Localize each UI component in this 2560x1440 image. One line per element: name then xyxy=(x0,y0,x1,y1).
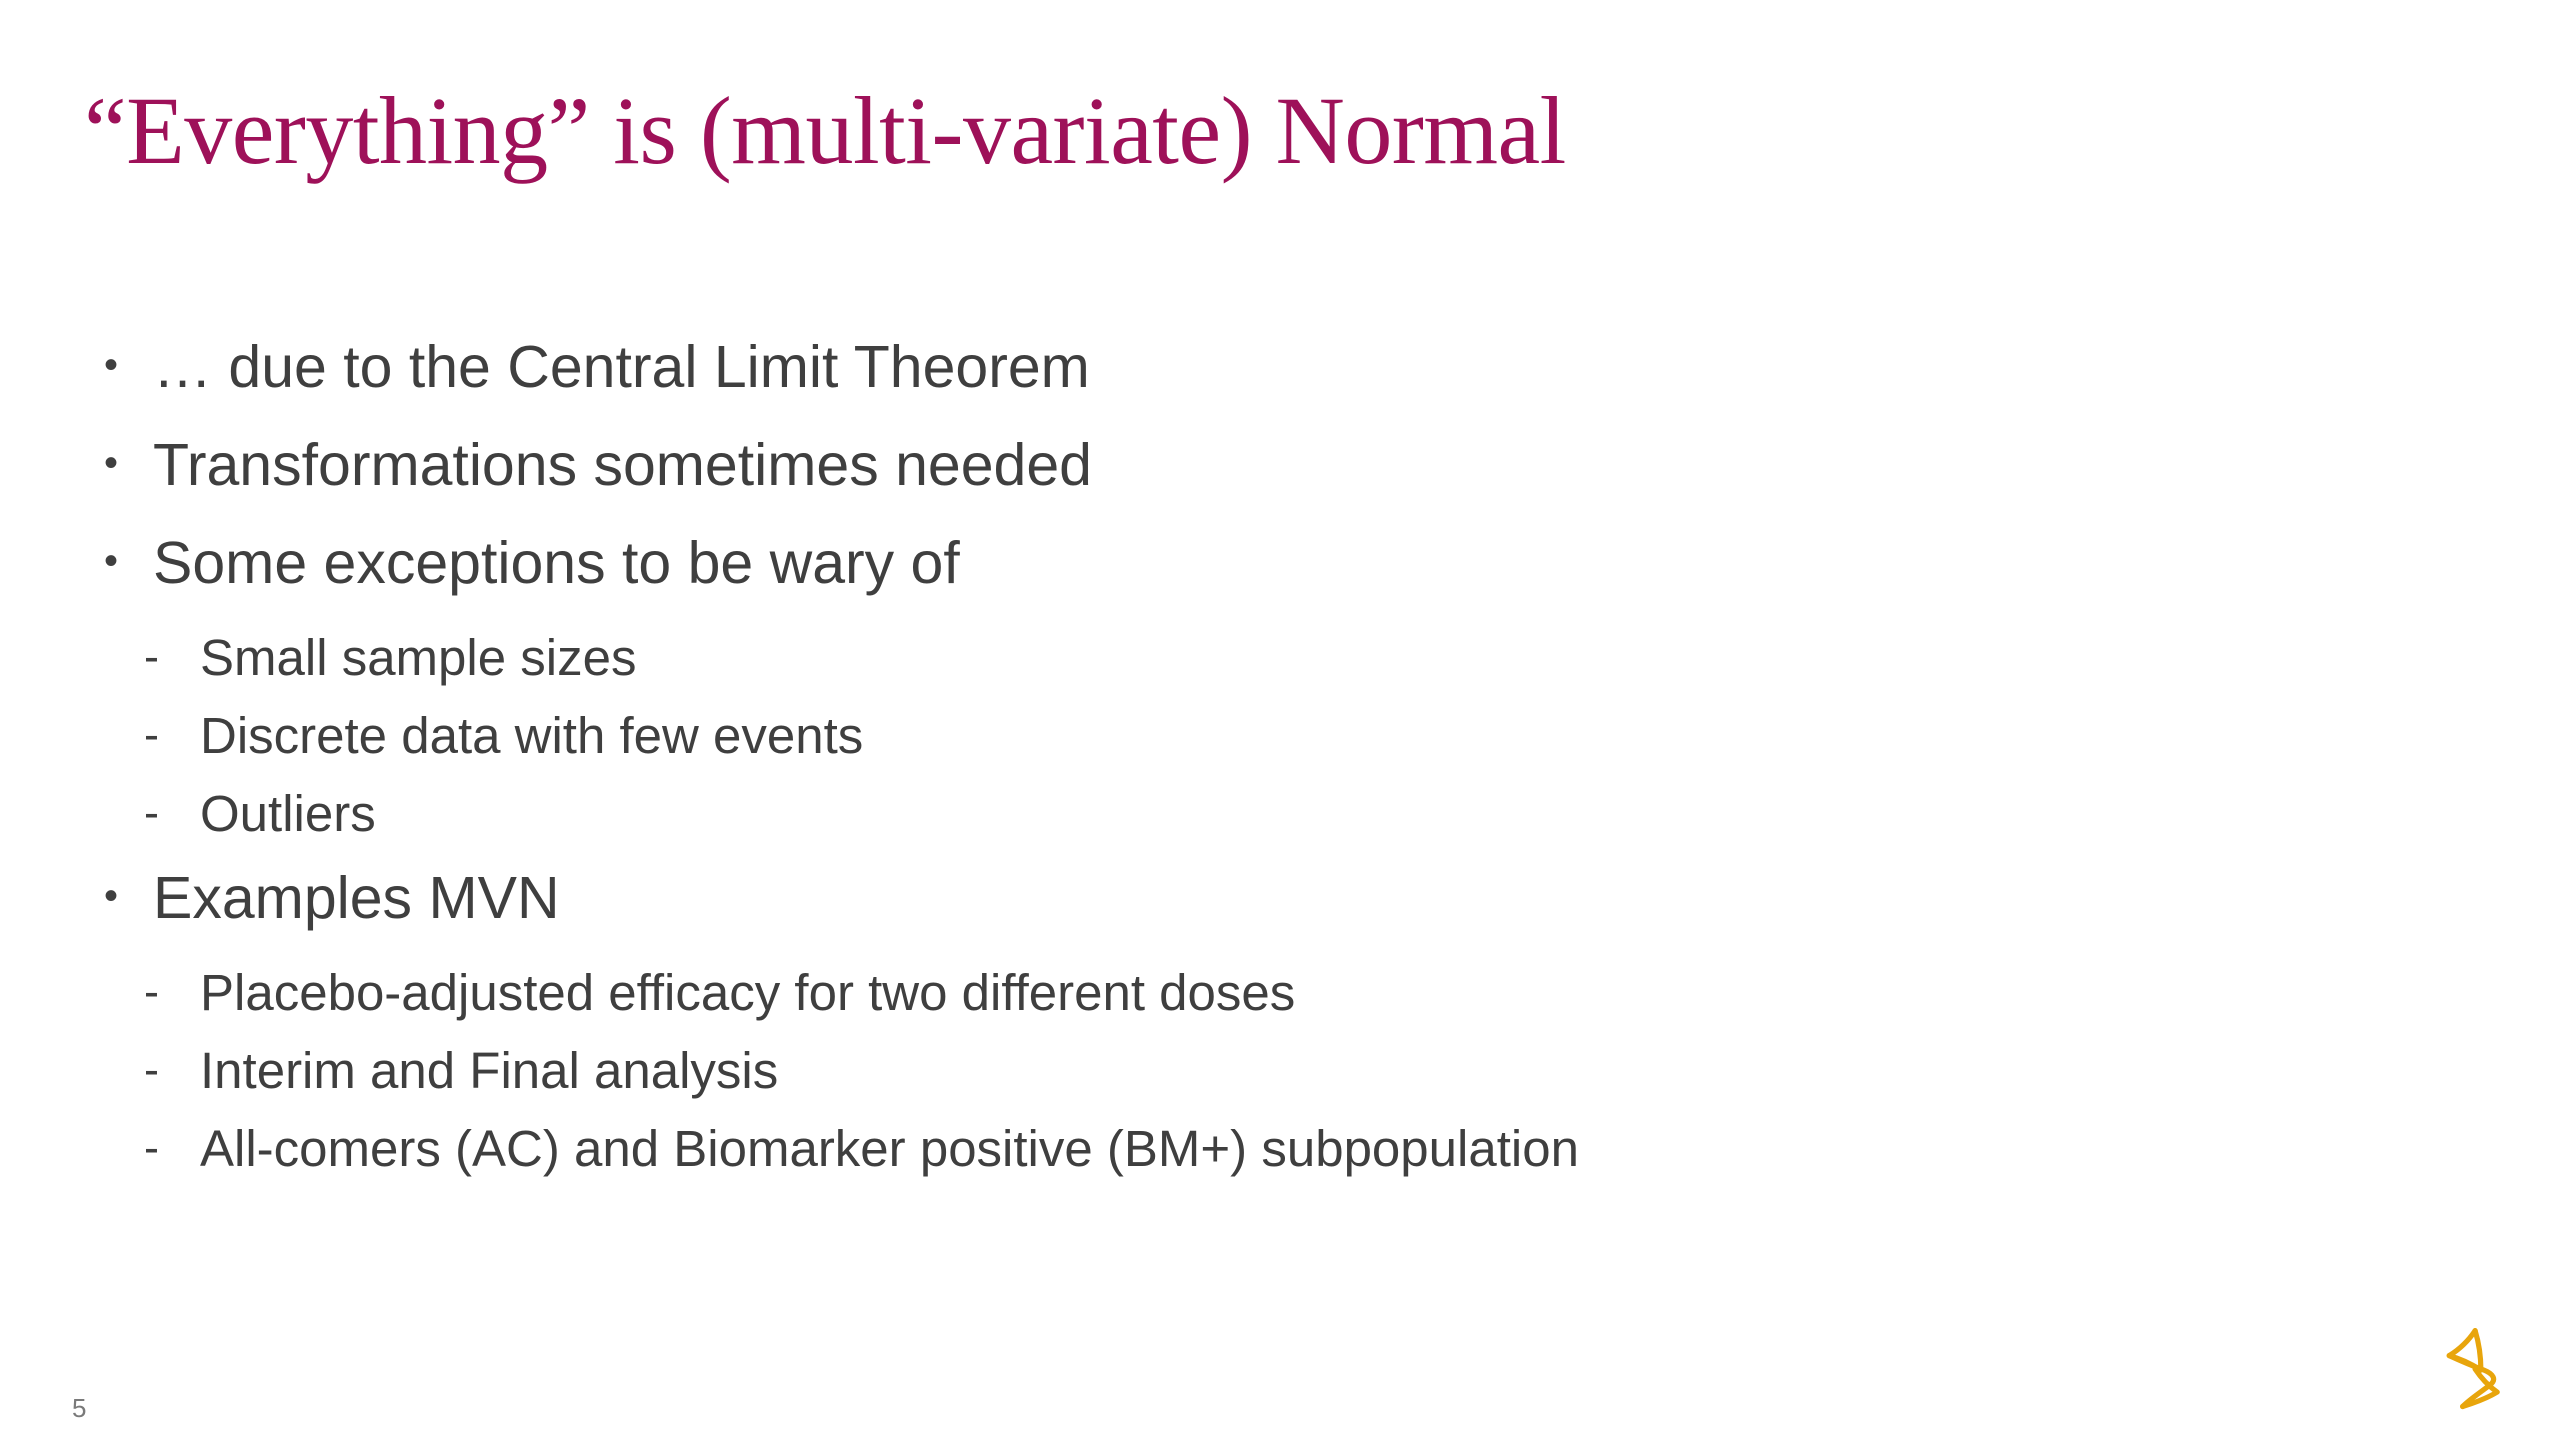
sub-bullet-item: -Placebo-adjusted efficacy for two diffe… xyxy=(96,967,2396,1018)
bullet-text: Transformations sometimes needed xyxy=(153,436,2396,495)
sub-bullet-text: Interim and Final analysis xyxy=(200,1045,2396,1096)
bullet-text: Some exceptions to be wary of xyxy=(153,534,2396,593)
dash-marker-icon: - xyxy=(144,632,200,682)
bullet-item: •… due to the Central Limit Theorem xyxy=(96,338,2396,397)
bullet-text: … due to the Central Limit Theorem xyxy=(153,338,2396,397)
astrazeneca-logo xyxy=(2430,1322,2526,1418)
bullet-item: •Examples MVN xyxy=(96,869,2396,928)
bullet-list: •… due to the Central Limit Theorem•Tran… xyxy=(96,338,2396,1201)
sub-bullet-item: -All-comers (AC) and Biomarker positive … xyxy=(96,1123,2396,1174)
dash-marker-icon: - xyxy=(144,710,200,760)
sub-bullet-item: -Interim and Final analysis xyxy=(96,1045,2396,1096)
bullet-marker-icon: • xyxy=(104,436,153,491)
bullet-marker-icon: • xyxy=(104,534,153,589)
sub-bullet-item: -Small sample sizes xyxy=(96,632,2396,683)
dash-marker-icon: - xyxy=(144,1123,200,1173)
sub-bullet-text: All-comers (AC) and Biomarker positive (… xyxy=(200,1123,2396,1174)
bullet-item: •Transformations sometimes needed xyxy=(96,436,2396,495)
dash-marker-icon: - xyxy=(144,788,200,838)
page-title: “Everything” is (multi-variate) Normal xyxy=(84,78,2284,184)
sub-bullet-item: -Discrete data with few events xyxy=(96,710,2396,761)
sub-bullet-text: Small sample sizes xyxy=(200,632,2396,683)
dash-marker-icon: - xyxy=(144,1045,200,1095)
sub-bullet-text: Discrete data with few events xyxy=(200,710,2396,761)
bullet-marker-icon: • xyxy=(104,869,153,924)
astrazeneca-logo-icon xyxy=(2430,1322,2526,1418)
dash-marker-icon: - xyxy=(144,967,200,1017)
sub-bullet-text: Placebo-adjusted efficacy for two differ… xyxy=(200,967,2396,1018)
bullet-text: Examples MVN xyxy=(153,869,2396,928)
slide-canvas: “Everything” is (multi-variate) Normal •… xyxy=(0,0,2560,1440)
bullet-item: •Some exceptions to be wary of xyxy=(96,534,2396,593)
page-number: 5 xyxy=(72,1393,86,1424)
sub-bullet-item: -Outliers xyxy=(96,788,2396,839)
sub-bullet-text: Outliers xyxy=(200,788,2396,839)
bullet-marker-icon: • xyxy=(104,338,153,393)
